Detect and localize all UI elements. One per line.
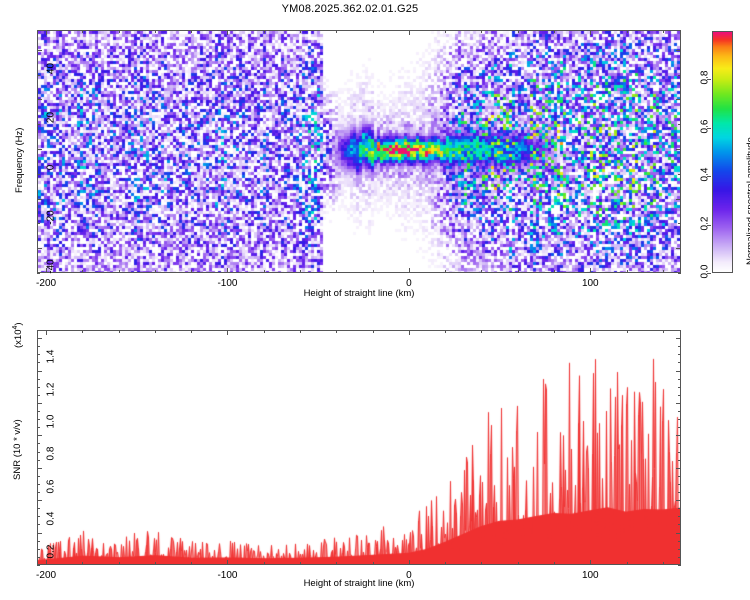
y-major-tick bbox=[676, 468, 681, 469]
x-minor-tick bbox=[300, 30, 301, 33]
y-major-tick bbox=[676, 533, 681, 534]
y-minor-tick bbox=[678, 565, 681, 566]
y-minor-tick bbox=[37, 508, 40, 509]
x-minor-tick bbox=[336, 562, 337, 565]
snr-scale-suffix: ) bbox=[13, 322, 24, 325]
colorbar-tick-label: 0.6 bbox=[700, 109, 711, 143]
figure-canvas: YM08.2025.362.02.01.G25 -200-1000100 -40… bbox=[0, 0, 750, 600]
snr-scale-annotation: (x104) bbox=[12, 322, 24, 348]
y-minor-tick bbox=[678, 124, 681, 125]
y-minor-tick bbox=[678, 427, 681, 428]
y-minor-tick bbox=[37, 387, 40, 388]
y-major-tick bbox=[37, 435, 42, 436]
x-major-tick bbox=[46, 30, 47, 35]
colorbar-tick-label: 0.0 bbox=[700, 255, 711, 289]
colorbar-tick-label: 0.4 bbox=[700, 158, 711, 192]
y-minor-tick bbox=[37, 362, 40, 363]
x-minor-tick bbox=[119, 30, 120, 33]
x-minor-tick bbox=[373, 562, 374, 565]
x-minor-tick bbox=[481, 270, 482, 273]
y-minor-tick bbox=[678, 379, 681, 380]
y-minor-tick bbox=[678, 524, 681, 525]
y-minor-tick bbox=[678, 75, 681, 76]
y-minor-tick bbox=[37, 223, 40, 224]
snr-trace bbox=[38, 331, 680, 564]
x-minor-tick bbox=[119, 330, 120, 333]
y-minor-tick bbox=[37, 75, 40, 76]
x-minor-tick bbox=[264, 270, 265, 273]
x-major-tick bbox=[409, 560, 410, 565]
x-major-tick bbox=[227, 30, 228, 35]
x-minor-tick bbox=[554, 330, 555, 333]
x-minor-tick bbox=[663, 562, 664, 565]
x-minor-tick bbox=[627, 270, 628, 273]
x-major-tick bbox=[227, 560, 228, 565]
x-minor-tick bbox=[191, 270, 192, 273]
y-minor-tick bbox=[678, 346, 681, 347]
y-major-tick bbox=[676, 338, 681, 339]
x-minor-tick bbox=[627, 562, 628, 565]
snr-axes bbox=[37, 330, 681, 565]
y-minor-tick bbox=[678, 330, 681, 331]
y-major-tick bbox=[676, 500, 681, 501]
y-minor-tick bbox=[678, 395, 681, 396]
x-minor-tick bbox=[554, 270, 555, 273]
x-minor-tick bbox=[518, 562, 519, 565]
x-minor-tick bbox=[155, 562, 156, 565]
y-minor-tick bbox=[37, 549, 40, 550]
y-minor-tick bbox=[37, 427, 40, 428]
y-minor-tick bbox=[678, 484, 681, 485]
y-minor-tick bbox=[37, 557, 40, 558]
y-minor-tick bbox=[37, 124, 40, 125]
page-title: YM08.2025.362.02.01.G25 bbox=[0, 3, 700, 15]
y-minor-tick bbox=[37, 492, 40, 493]
colorbar-image bbox=[713, 32, 732, 272]
y-minor-tick bbox=[37, 565, 40, 566]
x-minor-tick bbox=[481, 30, 482, 33]
x-minor-tick bbox=[119, 562, 120, 565]
x-minor-tick bbox=[663, 270, 664, 273]
x-major-tick bbox=[590, 560, 591, 565]
snr-x-axis-title: Height of straight line (km) bbox=[37, 578, 681, 589]
y-major-tick bbox=[676, 371, 681, 372]
y-tick-label: 1.4 bbox=[46, 337, 57, 377]
x-major-tick bbox=[227, 268, 228, 273]
spectrogram-x-axis-title: Height of straight line (km) bbox=[37, 288, 681, 299]
x-minor-tick bbox=[191, 30, 192, 33]
y-minor-tick bbox=[37, 330, 40, 331]
x-minor-tick bbox=[155, 270, 156, 273]
x-minor-tick bbox=[155, 30, 156, 33]
x-minor-tick bbox=[627, 30, 628, 33]
y-tick-label: 20 bbox=[46, 98, 57, 138]
y-major-tick bbox=[37, 99, 42, 100]
y-tick-label: -40 bbox=[46, 247, 57, 287]
y-minor-tick bbox=[678, 443, 681, 444]
y-tick-label: 40 bbox=[46, 48, 57, 88]
y-major-tick bbox=[37, 338, 42, 339]
snr-y-axis-title: SNR (10 * v/v) bbox=[12, 419, 23, 480]
x-minor-tick bbox=[82, 562, 83, 565]
y-major-tick bbox=[37, 199, 42, 200]
y-minor-tick bbox=[678, 387, 681, 388]
x-major-tick bbox=[590, 30, 591, 35]
y-minor-tick bbox=[37, 541, 40, 542]
y-minor-tick bbox=[37, 452, 40, 453]
colorbar-tick-label: 0.8 bbox=[700, 61, 711, 95]
y-minor-tick bbox=[678, 541, 681, 542]
y-minor-tick bbox=[37, 346, 40, 347]
x-minor-tick bbox=[554, 562, 555, 565]
y-major-tick bbox=[37, 468, 42, 469]
x-major-tick bbox=[409, 330, 410, 335]
y-minor-tick bbox=[678, 354, 681, 355]
x-minor-tick bbox=[445, 270, 446, 273]
y-minor-tick bbox=[37, 476, 40, 477]
x-minor-tick bbox=[445, 30, 446, 33]
y-minor-tick bbox=[37, 524, 40, 525]
y-minor-tick bbox=[678, 476, 681, 477]
x-minor-tick bbox=[300, 270, 301, 273]
y-minor-tick bbox=[678, 452, 681, 453]
y-major-tick bbox=[37, 50, 42, 51]
x-minor-tick bbox=[518, 270, 519, 273]
spectrogram-image-clip bbox=[38, 31, 680, 272]
y-minor-tick bbox=[678, 419, 681, 420]
colorbar-tick-label: 0.2 bbox=[700, 206, 711, 240]
spectrogram-axes bbox=[37, 30, 681, 273]
x-major-tick bbox=[409, 268, 410, 273]
x-minor-tick bbox=[264, 562, 265, 565]
y-tick-label: 0 bbox=[46, 148, 57, 188]
x-major-tick bbox=[409, 30, 410, 35]
y-minor-tick bbox=[37, 516, 40, 517]
y-tick-label: -20 bbox=[46, 197, 57, 237]
y-minor-tick bbox=[678, 516, 681, 517]
x-minor-tick bbox=[82, 30, 83, 33]
y-minor-tick bbox=[37, 174, 40, 175]
x-minor-tick bbox=[264, 330, 265, 333]
spectrogram-image bbox=[38, 31, 680, 272]
x-minor-tick bbox=[373, 270, 374, 273]
x-minor-tick bbox=[627, 330, 628, 333]
snr-scale-prefix: (x10 bbox=[13, 330, 24, 348]
y-major-tick bbox=[676, 403, 681, 404]
x-minor-tick bbox=[663, 30, 664, 33]
x-minor-tick bbox=[336, 270, 337, 273]
x-minor-tick bbox=[518, 330, 519, 333]
y-major-tick bbox=[676, 199, 681, 200]
x-minor-tick bbox=[82, 330, 83, 333]
x-minor-tick bbox=[300, 330, 301, 333]
y-minor-tick bbox=[678, 460, 681, 461]
x-minor-tick bbox=[336, 330, 337, 333]
x-minor-tick bbox=[191, 330, 192, 333]
spectrogram-y-axis-title: Frequency (Hz) bbox=[14, 128, 25, 193]
snr-scale-exponent: 4 bbox=[12, 326, 19, 330]
x-minor-tick bbox=[518, 30, 519, 33]
x-minor-tick bbox=[373, 30, 374, 33]
y-minor-tick bbox=[678, 174, 681, 175]
y-major-tick bbox=[37, 149, 42, 150]
y-minor-tick bbox=[678, 411, 681, 412]
x-major-tick bbox=[46, 330, 47, 335]
colorbar-gradient bbox=[712, 31, 733, 273]
y-minor-tick bbox=[37, 419, 40, 420]
y-minor-tick bbox=[678, 273, 681, 274]
x-minor-tick bbox=[445, 562, 446, 565]
x-minor-tick bbox=[481, 562, 482, 565]
y-major-tick bbox=[37, 248, 42, 249]
y-major-tick bbox=[37, 403, 42, 404]
y-minor-tick bbox=[678, 223, 681, 224]
y-minor-tick bbox=[37, 354, 40, 355]
y-minor-tick bbox=[37, 443, 40, 444]
y-minor-tick bbox=[37, 411, 40, 412]
x-minor-tick bbox=[336, 30, 337, 33]
x-minor-tick bbox=[373, 330, 374, 333]
x-minor-tick bbox=[264, 30, 265, 33]
y-major-tick bbox=[37, 371, 42, 372]
y-minor-tick bbox=[678, 557, 681, 558]
y-minor-tick bbox=[678, 362, 681, 363]
x-minor-tick bbox=[445, 330, 446, 333]
x-major-tick bbox=[590, 330, 591, 335]
x-minor-tick bbox=[481, 330, 482, 333]
y-major-tick bbox=[676, 248, 681, 249]
x-minor-tick bbox=[119, 270, 120, 273]
y-major-tick bbox=[676, 435, 681, 436]
y-minor-tick bbox=[678, 508, 681, 509]
y-minor-tick bbox=[37, 484, 40, 485]
y-major-tick bbox=[676, 149, 681, 150]
x-minor-tick bbox=[663, 330, 664, 333]
y-minor-tick bbox=[678, 492, 681, 493]
y-minor-tick bbox=[37, 395, 40, 396]
colorbar-title: Normalized spectral amplitude bbox=[745, 137, 750, 265]
y-major-tick bbox=[676, 99, 681, 100]
y-minor-tick bbox=[37, 273, 40, 274]
x-major-tick bbox=[590, 268, 591, 273]
snr-trace-clip bbox=[38, 331, 680, 564]
y-major-tick bbox=[37, 500, 42, 501]
x-minor-tick bbox=[554, 30, 555, 33]
y-major-tick bbox=[676, 50, 681, 51]
y-major-tick bbox=[37, 533, 42, 534]
y-minor-tick bbox=[37, 460, 40, 461]
x-minor-tick bbox=[300, 562, 301, 565]
y-minor-tick bbox=[37, 379, 40, 380]
x-major-tick bbox=[227, 330, 228, 335]
x-minor-tick bbox=[82, 270, 83, 273]
x-minor-tick bbox=[191, 562, 192, 565]
y-minor-tick bbox=[678, 549, 681, 550]
x-minor-tick bbox=[155, 330, 156, 333]
